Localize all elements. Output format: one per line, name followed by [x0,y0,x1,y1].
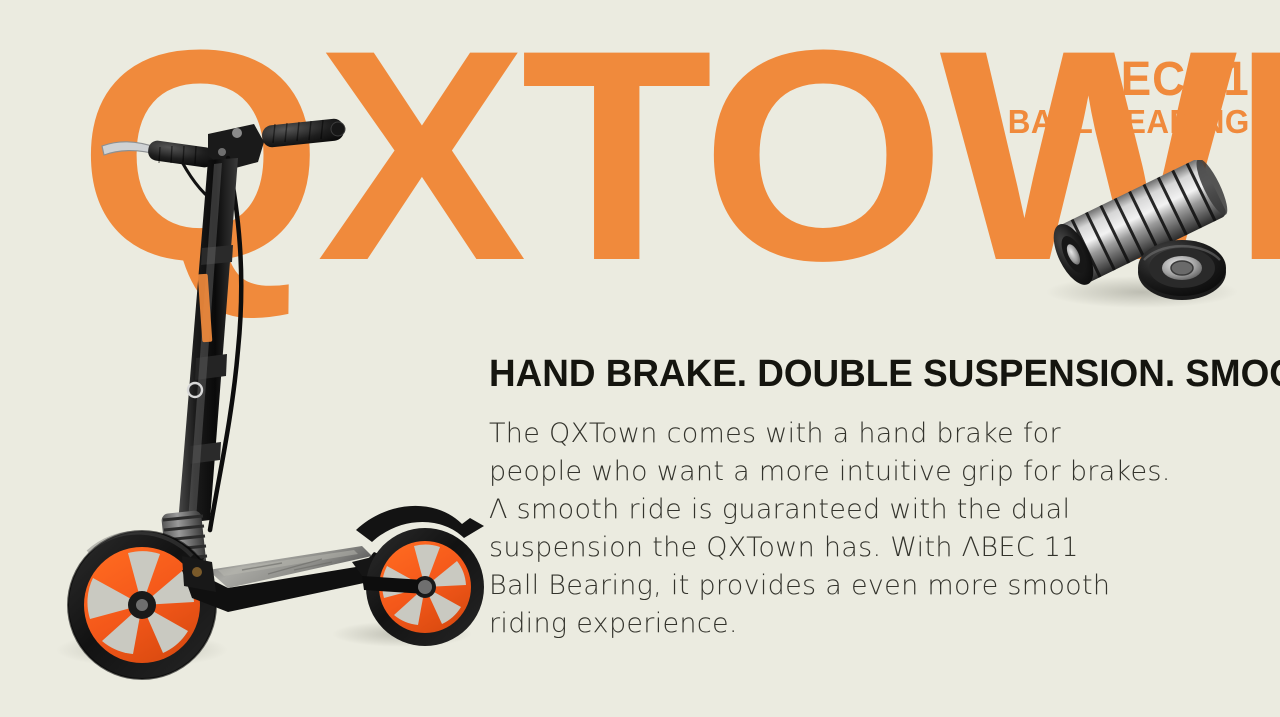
description-line: people who want a more intuitive grip fo… [489,453,1189,491]
copy-block: HAND BRAKE. DOUBLE SUSPENSION. SMOOTH Th… [489,355,1189,643]
deck-assembly [182,546,384,612]
clamp-bolt-1 [232,128,242,138]
clamp-bolt-2 [218,148,226,156]
hinge-bolt [192,567,202,577]
feature-description: The QXTown comes with a hand brake for p… [489,415,1189,643]
single-bearing [1138,240,1226,300]
front-wheel [68,531,216,679]
steering-stem [178,158,238,524]
description-line: Λ smooth ride is guaranteed with the dua… [489,491,1189,529]
front-axle-bolt [136,599,148,611]
description-line: riding experience. [489,605,1189,643]
abec-rating-label: ABEC 11 [1008,56,1250,104]
right-grip-cap [331,122,345,136]
ball-bearing-label: BALL BEARING [1008,104,1250,141]
feature-headline: HAND BRAKE. DOUBLE SUSPENSION. SMOOTH [489,355,1168,393]
description-line: Ball Bearing, it provides a even more sm… [489,567,1189,605]
scooter-product-image [32,100,502,680]
advertisement-canvas: QXTOWN [0,0,1280,717]
description-line: The QXTown comes with a hand brake for [489,415,1189,453]
stem-collar-1 [201,245,233,265]
description-line: suspension the QXTown has. With ΛBEC 11 [489,529,1189,567]
abec-badge: ABEC 11 BALL BEARING [995,56,1250,141]
rear-axle-bolt [418,580,432,594]
ball-bearing-product-image [1030,160,1265,315]
left-grip [147,140,215,169]
